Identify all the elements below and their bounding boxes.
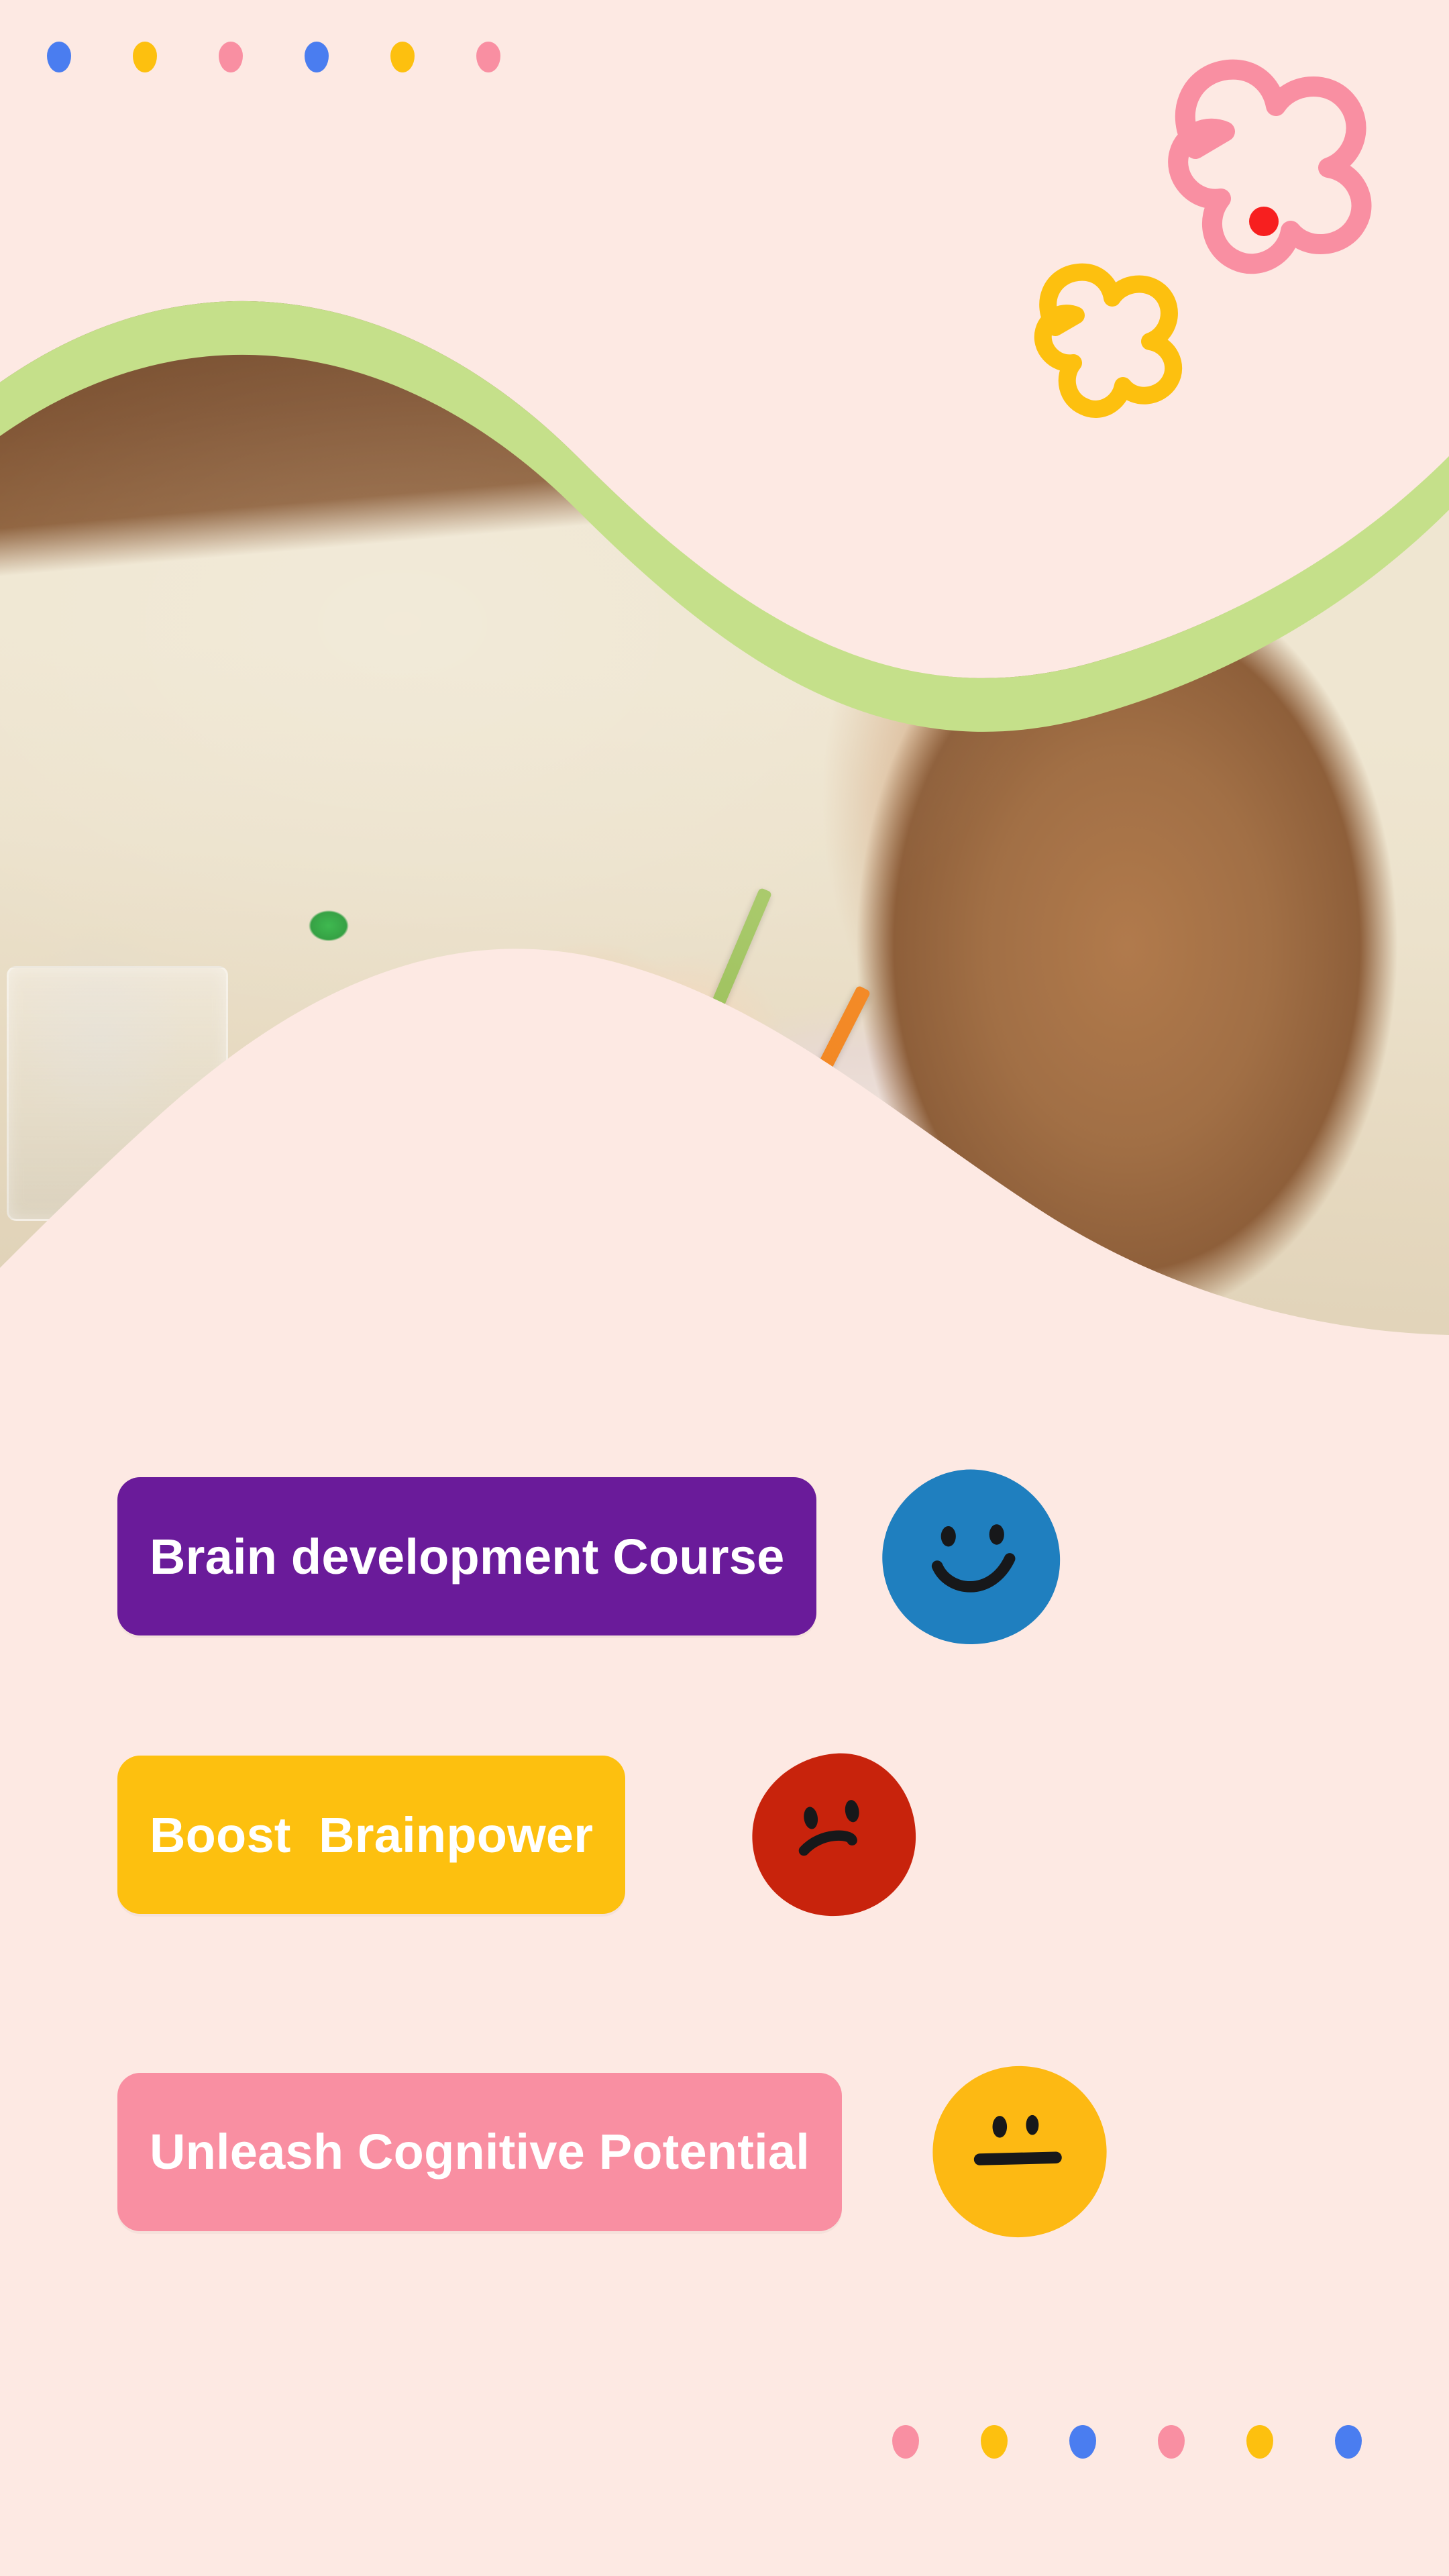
dot-blue-2 [305,42,329,72]
sad-face-red-icon [746,1751,920,1919]
flower-pink-icon [1178,70,1361,264]
smiley-face-blue-icon [877,1466,1065,1647]
banner-brain-development-course[interactable]: Brain development Course [117,1477,816,1635]
dot-blue-3 [1069,2425,1096,2459]
banner-unleash-cognitive-potential[interactable]: Unleash Cognitive Potential [117,2073,842,2231]
sad-face-red [746,1751,920,1919]
hero-photo [0,288,1449,1362]
flower-center-dot-icon [1249,207,1279,236]
poster-canvas: Brain development Course Boost Brainpowe… [0,0,1449,2576]
smiley-face-blue [877,1466,1065,1647]
neutral-face-yellow-icon [929,2063,1110,2241]
dot-yellow-2 [390,42,415,72]
dot-pink-3 [892,2425,919,2459]
banner-boost-brainpower[interactable]: Boost Brainpower [117,1756,625,1914]
dot-blue-4 [1335,2425,1362,2459]
dot-pink-2 [476,42,500,72]
neutral-face-yellow [929,2063,1110,2241]
decorative-dot-row-top [47,42,500,72]
dot-yellow-4 [1246,2425,1273,2459]
feature-row-2: Boost Brainpower [117,1751,920,1919]
dot-pink-4 [1158,2425,1185,2459]
dot-pink-1 [219,42,243,72]
dot-yellow-3 [981,2425,1008,2459]
decorative-dot-row-bottom [892,2425,1362,2459]
feature-row-3: Unleash Cognitive Potential [117,2063,1110,2241]
photo-highlight-overlay [0,288,1449,1362]
dot-yellow-1 [133,42,157,72]
feature-row-1: Brain development Course [117,1466,1065,1647]
dot-blue-1 [47,42,71,72]
